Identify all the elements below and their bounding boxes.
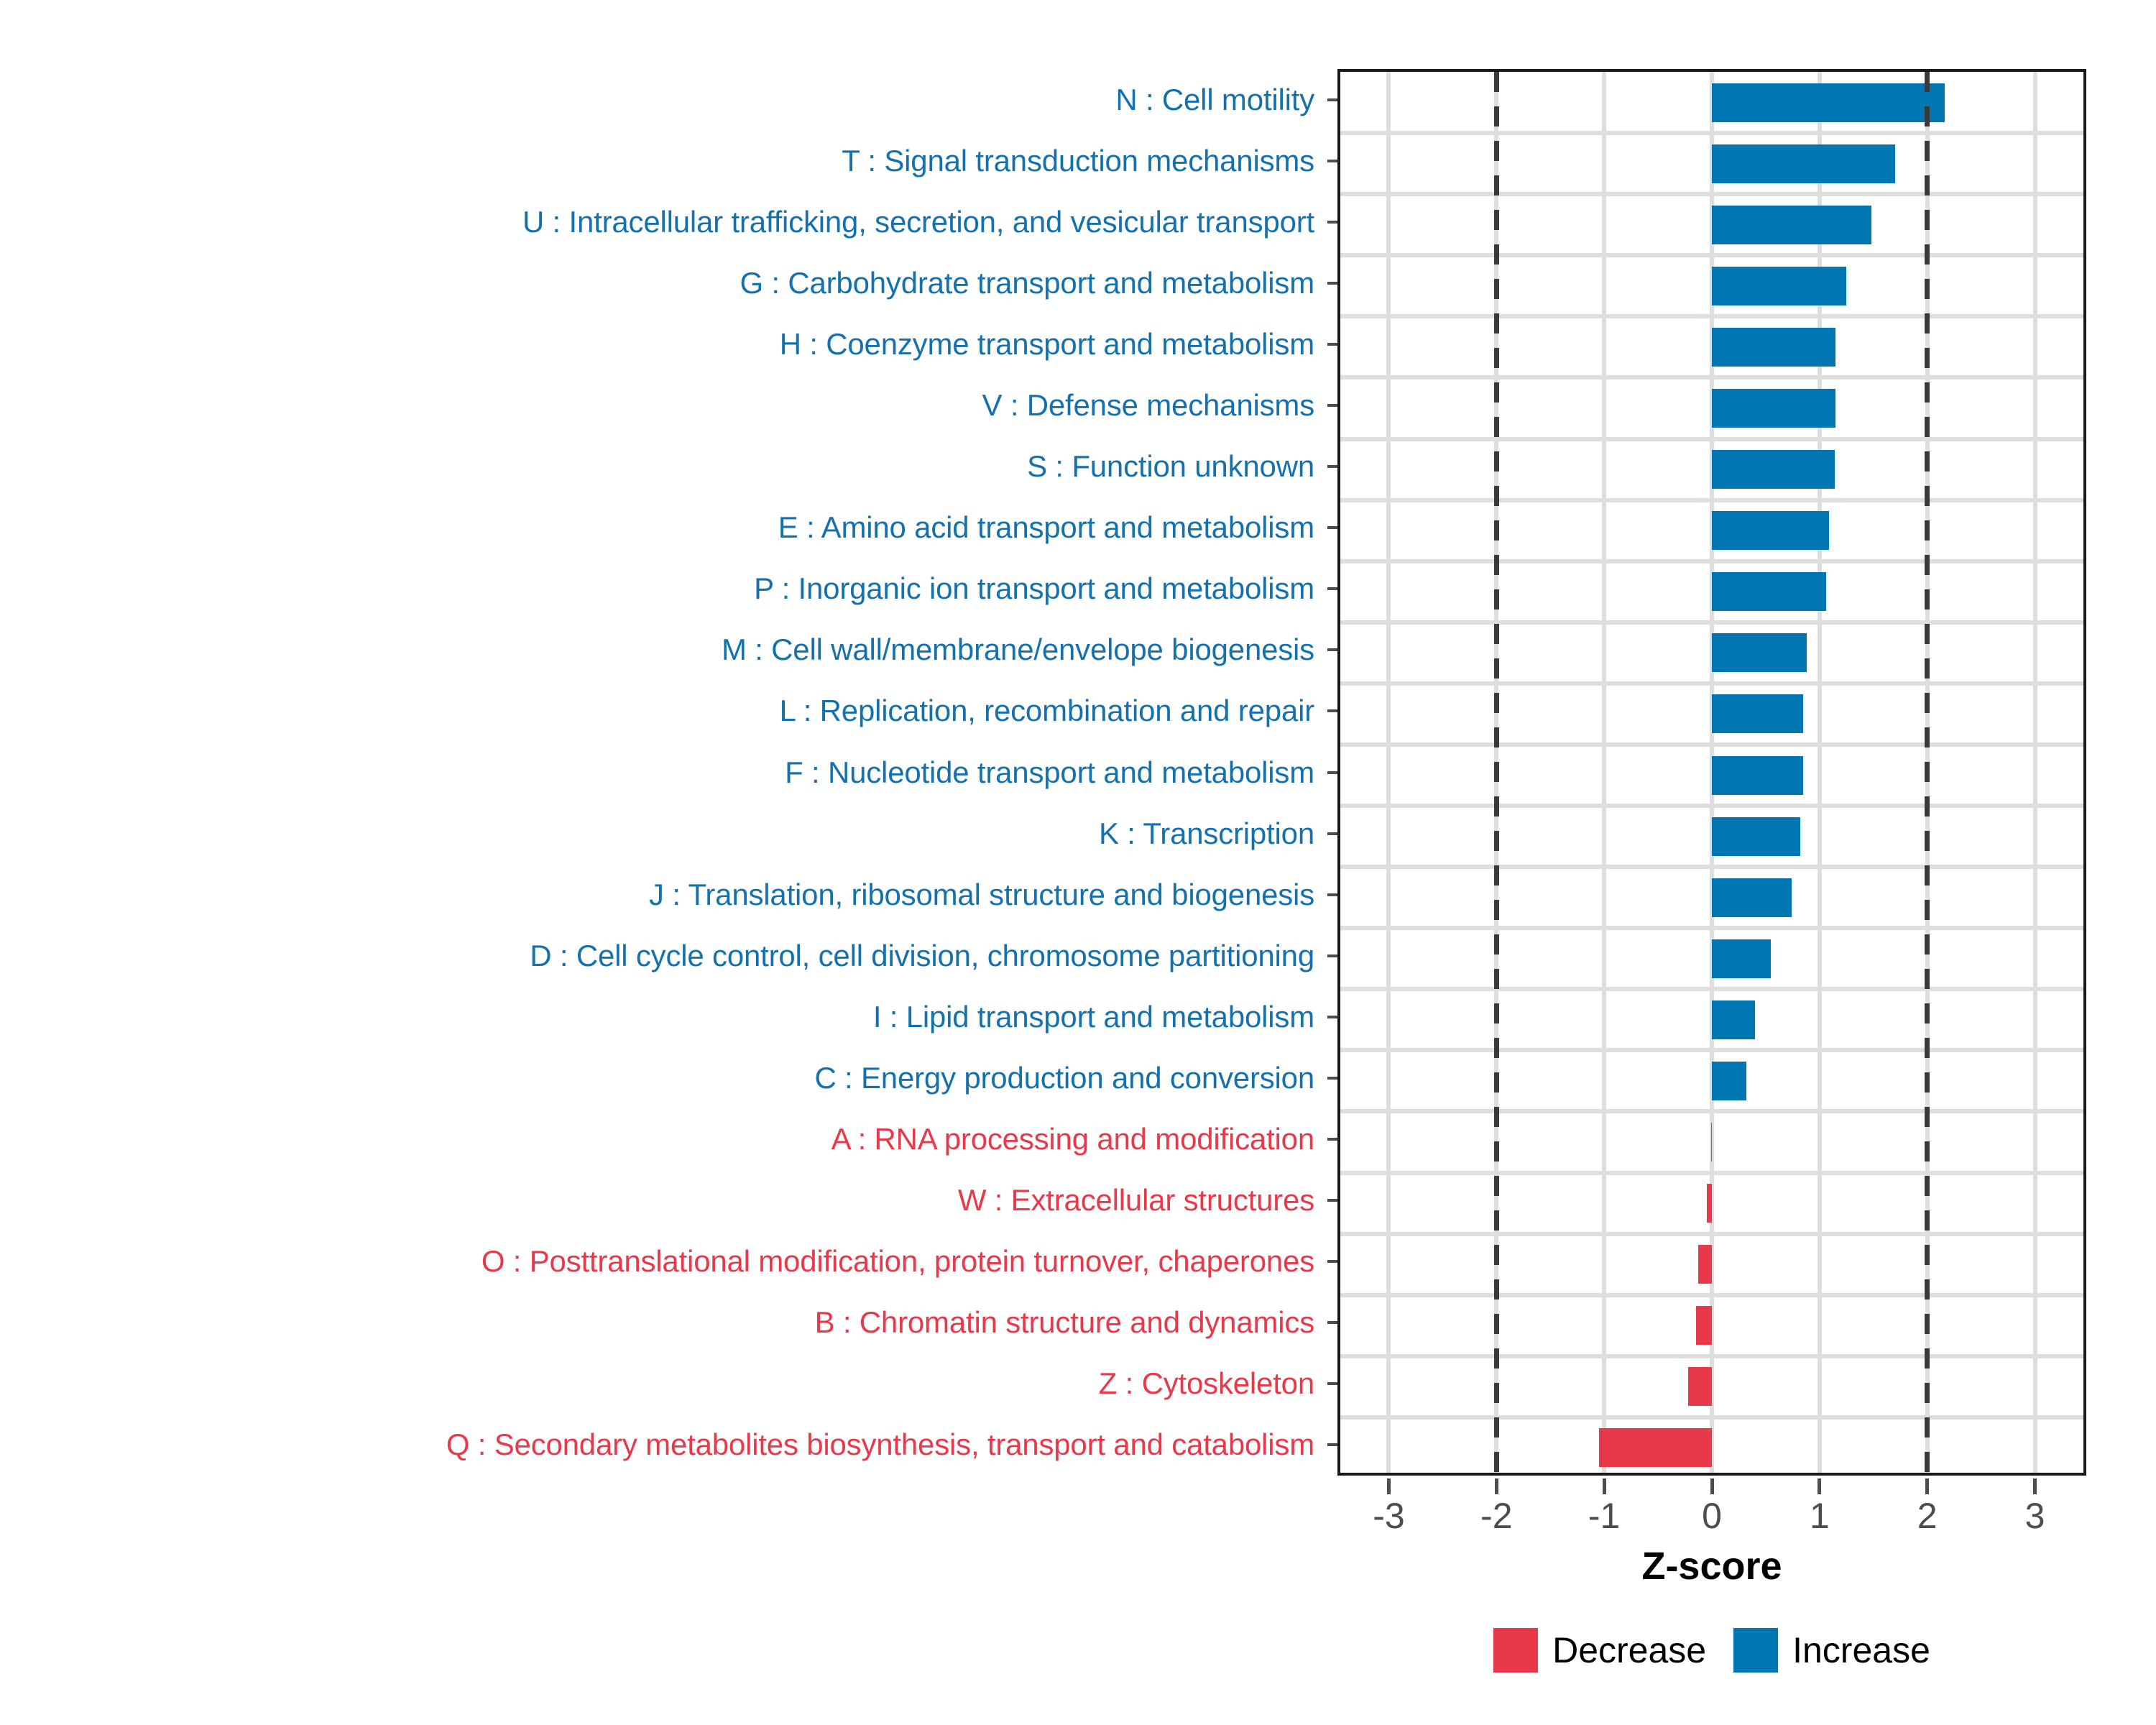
bar[interactable] bbox=[1712, 878, 1792, 917]
bar[interactable] bbox=[1712, 450, 1835, 489]
x-axis-tick-labels: -3-2-10123 bbox=[0, 1496, 2156, 1540]
x-axis-tick-label: -2 bbox=[1453, 1496, 1539, 1535]
x-axis-tick bbox=[1710, 1478, 1714, 1494]
y-axis-label: U : Intracellular trafficking, secretion… bbox=[522, 207, 1314, 237]
x-axis-tick bbox=[1925, 1478, 1929, 1494]
y-axis-label: N : Cell motility bbox=[1115, 85, 1314, 115]
y-axis-tick bbox=[1327, 160, 1337, 162]
y-axis-label: T : Signal transduction mechanisms bbox=[842, 146, 1314, 176]
y-axis-tick bbox=[1327, 832, 1337, 835]
y-axis-label: I : Lipid transport and metabolism bbox=[873, 1002, 1314, 1032]
y-axis-tick bbox=[1327, 282, 1337, 285]
bar[interactable] bbox=[1712, 511, 1829, 550]
y-axis-tick bbox=[1327, 1199, 1337, 1202]
vertical-gridline bbox=[2033, 72, 2037, 1473]
y-axis-label: K : Transcription bbox=[1099, 819, 1314, 849]
y-axis-tick bbox=[1327, 1382, 1337, 1385]
y-axis-label: C : Energy production and conversion bbox=[814, 1063, 1314, 1093]
bar[interactable] bbox=[1712, 633, 1807, 672]
y-axis-category-labels: N : Cell motilityT : Signal transduction… bbox=[0, 69, 1326, 1476]
y-axis-tick bbox=[1327, 221, 1337, 224]
x-axis-tick-label: -1 bbox=[1561, 1496, 1647, 1535]
bar[interactable] bbox=[1688, 1367, 1712, 1406]
y-axis-label: G : Carbohydrate transport and metabolis… bbox=[740, 268, 1314, 298]
legend-label-decrease: Decrease bbox=[1552, 1632, 1706, 1669]
bar[interactable] bbox=[1599, 1428, 1712, 1467]
y-axis-tick bbox=[1327, 648, 1337, 651]
x-axis-tick bbox=[1495, 1478, 1498, 1494]
y-axis-label: M : Cell wall/membrane/envelope biogenes… bbox=[722, 635, 1314, 665]
x-axis-ticks bbox=[0, 1478, 2156, 1496]
vertical-gridline bbox=[1386, 72, 1391, 1473]
x-axis-tick-label: -3 bbox=[1345, 1496, 1432, 1535]
bar[interactable] bbox=[1712, 572, 1826, 611]
bar[interactable] bbox=[1712, 817, 1800, 856]
y-axis-tick bbox=[1327, 1260, 1337, 1263]
bar[interactable] bbox=[1712, 83, 1945, 122]
y-axis-tick bbox=[1327, 526, 1337, 529]
y-axis-tick bbox=[1327, 893, 1337, 896]
bar[interactable] bbox=[1707, 1184, 1712, 1223]
cog-zscore-bar-chart: N : Cell motilityT : Signal transduction… bbox=[0, 0, 2156, 1725]
bar[interactable] bbox=[1698, 1245, 1712, 1284]
y-axis-label: E : Amino acid transport and metabolism bbox=[778, 512, 1314, 543]
x-axis-tick bbox=[2033, 1478, 2037, 1494]
legend-swatch-decrease-icon bbox=[1493, 1628, 1538, 1673]
bar[interactable] bbox=[1712, 756, 1803, 795]
bar[interactable] bbox=[1712, 144, 1895, 183]
bar[interactable] bbox=[1712, 328, 1835, 367]
y-axis-tick bbox=[1327, 343, 1337, 346]
y-axis-tick bbox=[1327, 465, 1337, 468]
legend-swatch-increase-icon bbox=[1733, 1628, 1778, 1673]
y-axis-tick bbox=[1327, 1321, 1337, 1324]
y-axis-tick bbox=[1327, 954, 1337, 957]
reference-line-dashed bbox=[1494, 72, 1499, 1473]
y-axis-label: W : Extracellular structures bbox=[958, 1185, 1314, 1215]
vertical-gridline bbox=[1602, 72, 1606, 1473]
y-axis-tick bbox=[1327, 98, 1337, 101]
x-axis-tick-label: 0 bbox=[1669, 1496, 1755, 1535]
bar[interactable] bbox=[1712, 1062, 1746, 1100]
legend-item-decrease[interactable]: Decrease bbox=[1493, 1628, 1706, 1673]
y-axis-label: Q : Secondary metabolites biosynthesis, … bbox=[446, 1430, 1314, 1460]
bar[interactable] bbox=[1712, 694, 1803, 733]
y-axis-label: D : Cell cycle control, cell division, c… bbox=[530, 941, 1314, 971]
bar[interactable] bbox=[1711, 1123, 1713, 1161]
y-axis-tick bbox=[1327, 1077, 1337, 1080]
y-axis-label: P : Inorganic ion transport and metaboli… bbox=[754, 574, 1314, 604]
y-axis-label: F : Nucleotide transport and metabolism bbox=[785, 758, 1314, 788]
y-axis-tick bbox=[1327, 771, 1337, 774]
y-axis-label: J : Translation, ribosomal structure and… bbox=[649, 880, 1314, 910]
y-axis-tick bbox=[1327, 1443, 1337, 1446]
y-axis-tick bbox=[1327, 1138, 1337, 1141]
bar[interactable] bbox=[1712, 389, 1835, 428]
x-axis-tick-label: 2 bbox=[1884, 1496, 1971, 1535]
y-axis-label: B : Chromatin structure and dynamics bbox=[815, 1307, 1314, 1338]
y-axis-label: O : Posttranslational modification, prot… bbox=[482, 1246, 1314, 1276]
x-axis-tick bbox=[1818, 1478, 1821, 1494]
y-axis-label: V : Defense mechanisms bbox=[982, 390, 1314, 420]
bar[interactable] bbox=[1712, 939, 1771, 978]
plot-panel bbox=[1337, 69, 2086, 1476]
y-axis-label: A : RNA processing and modification bbox=[831, 1124, 1314, 1154]
x-axis-tick-label: 3 bbox=[1992, 1496, 2078, 1535]
y-axis-label: L : Replication, recombination and repai… bbox=[780, 696, 1314, 726]
plot-area bbox=[1340, 72, 2083, 1473]
legend-label-increase: Increase bbox=[1792, 1632, 1930, 1669]
y-axis-tick bbox=[1327, 1016, 1337, 1018]
reference-line-dashed bbox=[1925, 72, 1930, 1473]
y-axis-tick bbox=[1327, 587, 1337, 590]
y-axis-label: H : Coenzyme transport and metabolism bbox=[780, 329, 1314, 359]
bar[interactable] bbox=[1696, 1306, 1712, 1345]
chart-legend: Decrease Increase bbox=[1337, 1628, 2086, 1673]
x-axis-title: Z-score bbox=[1337, 1544, 2086, 1588]
y-axis-label: Z : Cytoskeleton bbox=[1099, 1368, 1314, 1399]
x-axis-tick-label: 1 bbox=[1777, 1496, 1863, 1535]
y-axis-label: S : Function unknown bbox=[1027, 451, 1314, 482]
y-axis-tick bbox=[1327, 404, 1337, 407]
y-axis-tick bbox=[1327, 709, 1337, 712]
bar[interactable] bbox=[1712, 267, 1846, 305]
x-axis-tick bbox=[1603, 1478, 1606, 1494]
bar[interactable] bbox=[1712, 1000, 1755, 1039]
x-axis-tick bbox=[1387, 1478, 1391, 1494]
bar[interactable] bbox=[1712, 206, 1871, 244]
legend-item-increase[interactable]: Increase bbox=[1733, 1628, 1930, 1673]
